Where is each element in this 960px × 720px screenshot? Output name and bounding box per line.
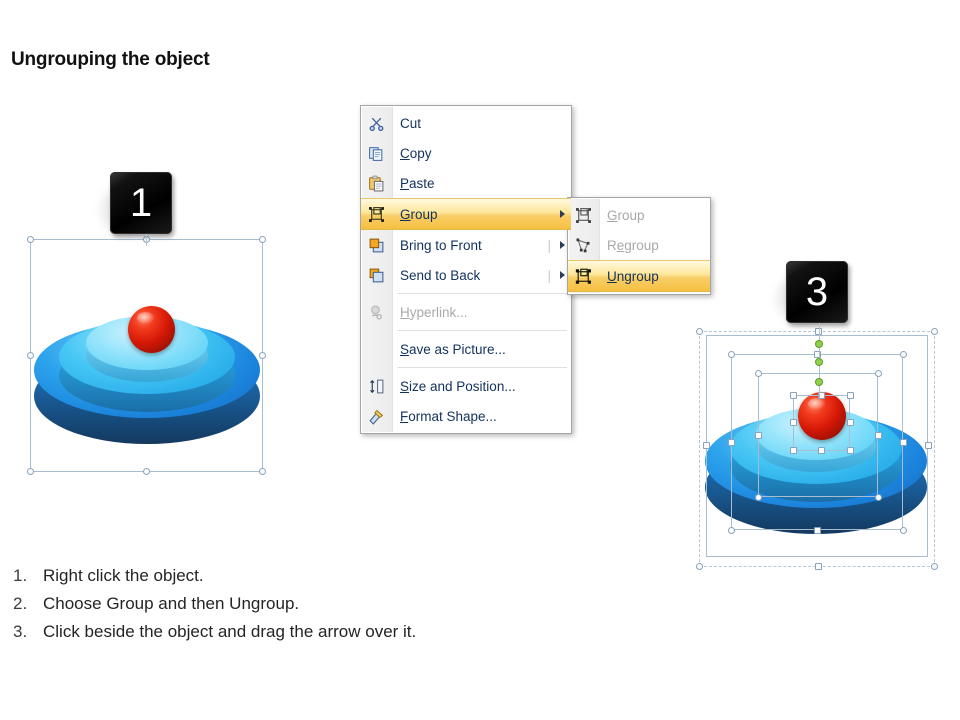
list-item-number: 3. — [13, 622, 43, 642]
step-badge-1-number: 1 — [130, 183, 152, 223]
copy-icon — [361, 145, 392, 162]
step-badge-1: 1 — [110, 172, 172, 234]
selection-frame-sphere[interactable] — [793, 395, 850, 451]
selection-handle[interactable] — [27, 236, 34, 243]
selection-handle[interactable] — [814, 527, 821, 534]
list-item-text: Choose Group and then Ungroup. — [43, 594, 299, 614]
menu-item-copy-label: Copy — [392, 146, 553, 161]
selection-handle[interactable] — [728, 439, 735, 446]
menu-divider-pipe: | — [547, 238, 551, 253]
selection-handle[interactable] — [143, 468, 150, 475]
menu-item-cut[interactable]: Cut — [361, 108, 571, 138]
menu-item-format-shape-label: Format Shape... — [392, 409, 553, 424]
rotate-handle[interactable] — [815, 358, 823, 366]
group-icon — [361, 206, 392, 223]
menu-item-save-as-picture[interactable]: Save as Picture... — [361, 334, 571, 364]
page-title: Ungrouping the object — [11, 49, 209, 71]
step-badge-3: 3 — [786, 261, 848, 323]
list-item: 3. Click beside the object and drag the … — [13, 622, 633, 642]
paste-icon — [361, 175, 392, 192]
menu-item-paste[interactable]: Paste — [361, 168, 571, 198]
list-item-text: Right click the object. — [43, 566, 204, 586]
selection-handle[interactable] — [818, 447, 825, 454]
menu-item-save-as-picture-label: Save as Picture... — [392, 342, 553, 357]
menu-item-send-to-back[interactable]: Send to Back | — [361, 260, 571, 290]
selection-handle[interactable] — [696, 563, 703, 570]
list-item: 1. Right click the object. — [13, 566, 633, 586]
list-item-number: 2. — [13, 594, 43, 614]
selection-handle[interactable] — [755, 432, 762, 439]
selection-handle[interactable] — [27, 352, 34, 359]
menu-item-bring-to-front-label: Bring to Front — [392, 238, 547, 253]
menu-item-format-shape[interactable]: Format Shape... — [361, 401, 571, 431]
selection-handle[interactable] — [900, 527, 907, 534]
menu-item-size-and-position-label: Size and Position... — [392, 379, 553, 394]
menu-item-hyperlink-label: Hyperlink... — [392, 305, 553, 320]
badge-1-stem — [146, 234, 147, 246]
scissors-icon — [361, 115, 392, 132]
selection-handle[interactable] — [815, 563, 822, 570]
selection-handle[interactable] — [259, 352, 266, 359]
selection-frame-left[interactable] — [30, 239, 263, 472]
menu-item-paste-label: Paste — [392, 176, 553, 191]
badge-3-stem — [819, 323, 820, 337]
selection-handle[interactable] — [847, 447, 854, 454]
menu-separator — [397, 330, 567, 331]
menu-item-hyperlink: Hyperlink... — [361, 297, 571, 327]
selection-handle[interactable] — [696, 328, 703, 335]
selection-handle[interactable] — [847, 419, 854, 426]
bring-to-front-icon — [361, 237, 392, 254]
selection-handle[interactable] — [27, 468, 34, 475]
ungroup-icon — [568, 268, 599, 285]
menu-item-bring-to-front[interactable]: Bring to Front | — [361, 230, 571, 260]
rotate-handle[interactable] — [815, 340, 823, 348]
submenu-item-regroup: Regroup — [568, 230, 710, 260]
selection-handle[interactable] — [790, 447, 797, 454]
selection-handle[interactable] — [900, 351, 907, 358]
size-position-icon — [361, 378, 392, 395]
selection-handle[interactable] — [875, 494, 882, 501]
selection-handle[interactable] — [728, 527, 735, 534]
selection-handle[interactable] — [790, 392, 797, 399]
selection-handle[interactable] — [728, 351, 735, 358]
send-to-back-icon — [361, 267, 392, 284]
menu-item-group[interactable]: Group — [361, 198, 571, 230]
selection-handle[interactable] — [259, 468, 266, 475]
group-submenu[interactable]: Group Regroup Ungroup — [567, 197, 711, 295]
submenu-item-group-label: Group — [599, 208, 710, 223]
selection-handle[interactable] — [931, 563, 938, 570]
selection-handle[interactable] — [259, 236, 266, 243]
selection-handle[interactable] — [931, 328, 938, 335]
context-menu[interactable]: Cut Copy — [360, 105, 572, 434]
menu-item-group-label: Group — [392, 207, 553, 222]
submenu-item-group: Group — [568, 200, 710, 230]
selection-handle[interactable] — [875, 370, 882, 377]
format-shape-icon — [361, 408, 392, 425]
menu-divider-pipe: | — [547, 268, 551, 283]
menu-item-copy[interactable]: Copy — [361, 138, 571, 168]
step-badge-3-number: 3 — [806, 272, 828, 312]
list-item-number: 1. — [13, 566, 43, 586]
menu-separator — [397, 293, 567, 294]
list-item-text: Click beside the object and drag the arr… — [43, 622, 416, 642]
menu-item-cut-label: Cut — [392, 116, 553, 131]
rotate-handle[interactable] — [815, 378, 823, 386]
menu-item-size-and-position[interactable]: Size and Position... — [361, 371, 571, 401]
group-icon — [568, 207, 599, 224]
selection-handle[interactable] — [925, 442, 932, 449]
submenu-item-ungroup-label: Ungroup — [599, 269, 710, 284]
selection-handle[interactable] — [790, 419, 797, 426]
selection-handle[interactable] — [703, 442, 710, 449]
menu-separator — [397, 367, 567, 368]
selection-handle[interactable] — [755, 370, 762, 377]
regroup-icon — [568, 237, 599, 254]
instruction-list: 1. Right click the object. 2. Choose Gro… — [13, 566, 633, 650]
hyperlink-icon — [361, 304, 392, 321]
submenu-item-regroup-label: Regroup — [599, 238, 710, 253]
selection-handle[interactable] — [755, 494, 762, 501]
menu-item-send-to-back-label: Send to Back — [392, 268, 547, 283]
selection-handle[interactable] — [900, 439, 907, 446]
selection-handle[interactable] — [847, 392, 854, 399]
slide-canvas: Ungrouping the object 1 — [0, 0, 960, 720]
list-item: 2. Choose Group and then Ungroup. — [13, 594, 633, 614]
selection-handle[interactable] — [875, 432, 882, 439]
submenu-item-ungroup[interactable]: Ungroup — [568, 260, 710, 292]
